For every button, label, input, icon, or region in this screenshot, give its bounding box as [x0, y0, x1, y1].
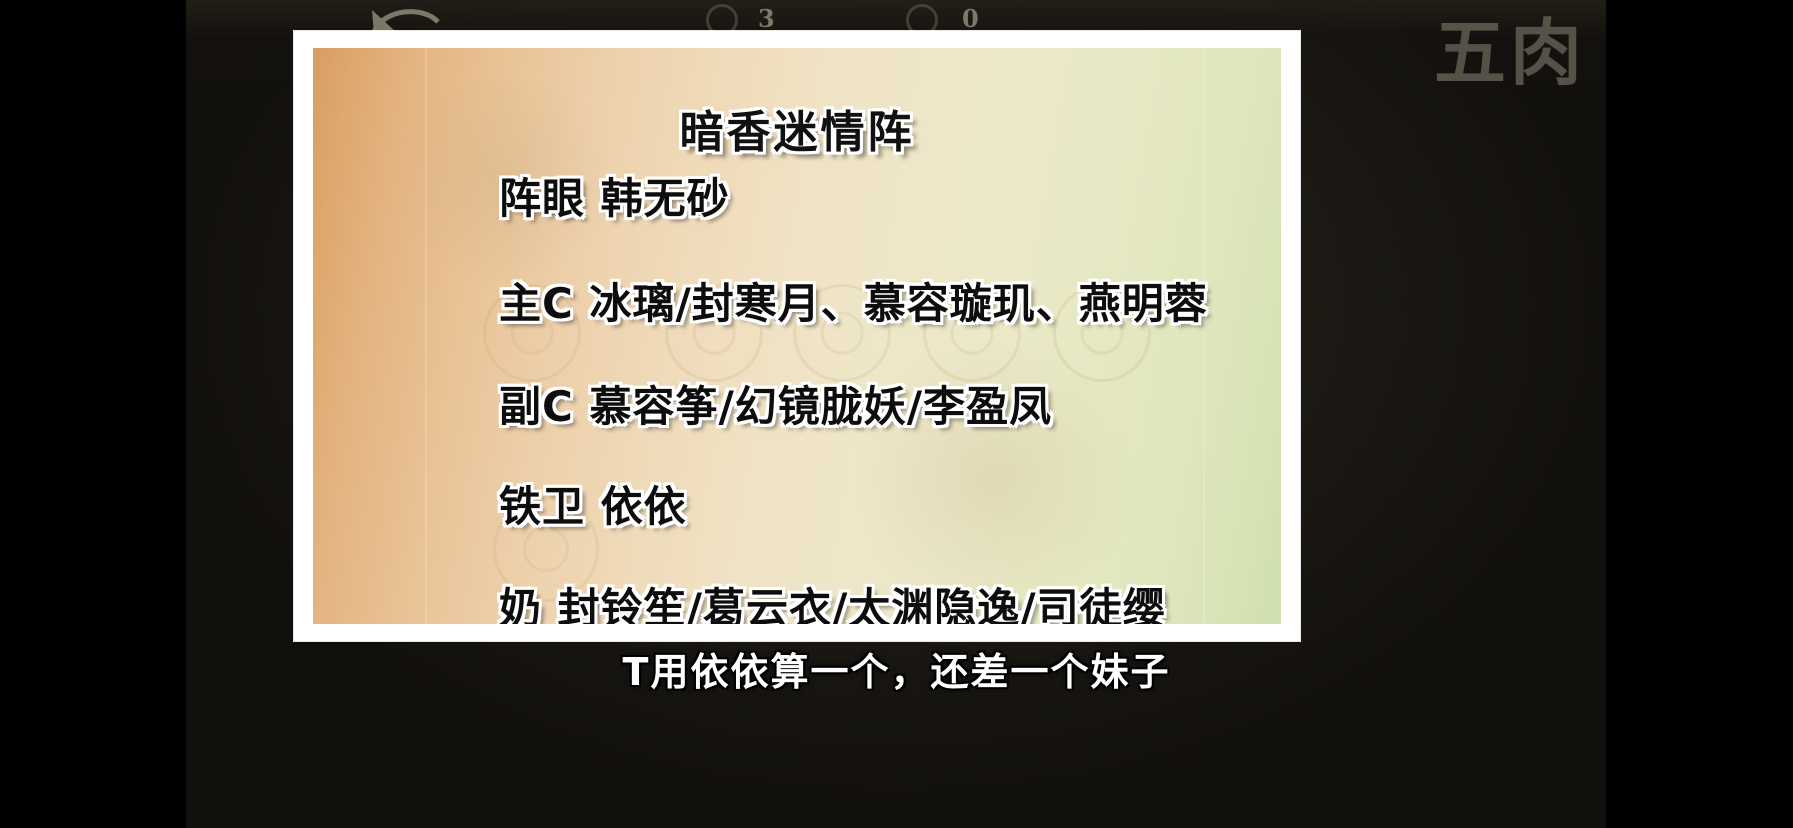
currency-count-2: 0	[962, 4, 979, 33]
overlay-card-frame: 暗香迷情阵 阵眼 韩无砂 主C 冰璃/封寒月、慕容璇玑、燕明蓉 副C 慕容筝/幻…	[294, 31, 1300, 641]
roster-line-sub-dps: 副C 慕容筝/幻镜胧妖/李盈凤	[499, 373, 1052, 434]
subtitle-text: T用依依算一个，还差一个妹子	[0, 641, 1793, 696]
roster-line-tank: 铁卫 依依	[499, 473, 687, 534]
letterbox-left	[0, 0, 186, 828]
overlay-card: 暗香迷情阵 阵眼 韩无砂 主C 冰璃/封寒月、慕容璇玑、燕明蓉 副C 慕容筝/幻…	[313, 48, 1281, 624]
roster-line-healer: 奶 封铃笙/葛云衣/太渊隐逸/司徒缨	[499, 575, 1166, 624]
page-title: 暗香迷情阵	[313, 96, 1281, 160]
letterbox-right	[1606, 0, 1793, 828]
corner-watermark: 五肉	[1434, 0, 1586, 99]
currency-count-1: 3	[758, 4, 775, 33]
video-frame: 3 0 五肉 品阶21 . 历练 + 10 一获得物品一 一阶 · 神之蕴 取消…	[0, 0, 1793, 828]
roster-line-anchor: 阵眼 韩无砂	[499, 165, 730, 226]
roster-line-main-dps: 主C 冰璃/封寒月、慕容璇玑、燕明蓉	[499, 270, 1208, 331]
